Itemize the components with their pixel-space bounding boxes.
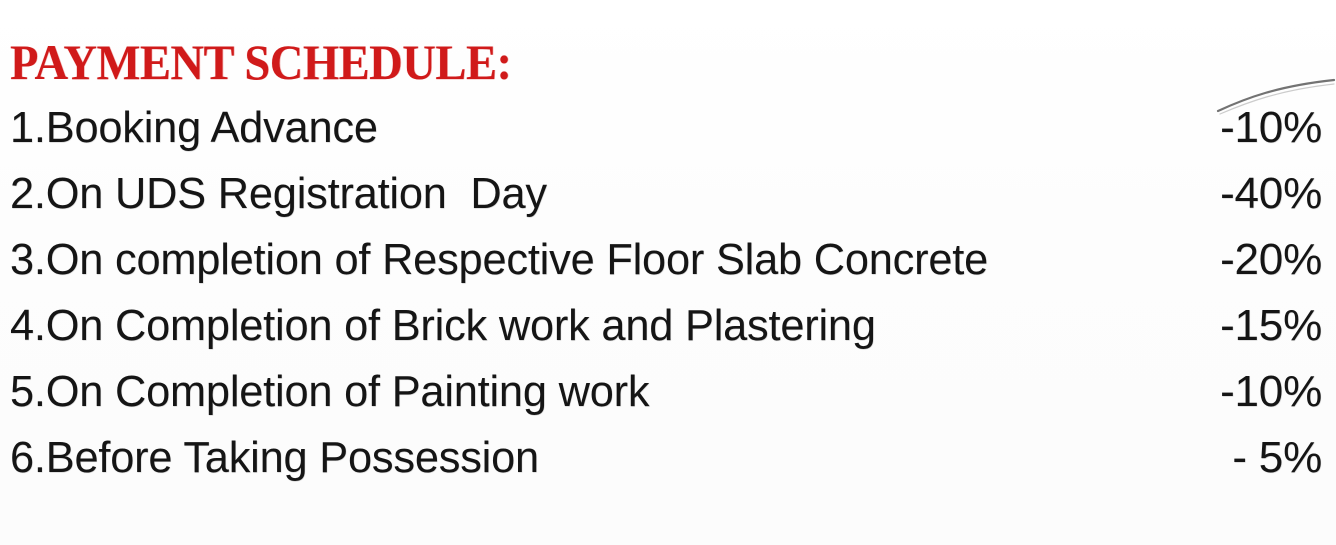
list-item: 2.On UDS Registration Day -40% xyxy=(10,166,1326,232)
list-item: 3.On completion of Respective Floor Slab… xyxy=(10,232,1326,298)
page-title: PAYMENT SCHEDULE: xyxy=(10,36,512,88)
schedule-item-label: 4.On Completion of Brick work and Plaste… xyxy=(10,298,876,354)
schedule-item-label: 3.On completion of Respective Floor Slab… xyxy=(10,232,988,288)
list-item: 4.On Completion of Brick work and Plaste… xyxy=(10,298,1326,364)
schedule-item-percentage: - 5% xyxy=(1232,430,1326,486)
schedule-item-percentage: -10% xyxy=(1220,100,1326,156)
list-item: 6.Before Taking Possession - 5% xyxy=(10,430,1326,496)
schedule-item-label: 1.Booking Advance xyxy=(10,100,378,156)
list-item: 5.On Completion of Painting work -10% xyxy=(10,364,1326,430)
payment-schedule-list: 1.Booking Advance -10% 2.On UDS Registra… xyxy=(10,100,1326,496)
payment-schedule-document: PAYMENT SCHEDULE: 1.Booking Advance -10%… xyxy=(0,0,1336,545)
schedule-item-percentage: -10% xyxy=(1220,364,1326,420)
schedule-item-label: 6.Before Taking Possession xyxy=(10,430,539,486)
schedule-item-percentage: -40% xyxy=(1220,166,1326,222)
schedule-item-percentage: -20% xyxy=(1220,232,1326,288)
schedule-item-percentage: -15% xyxy=(1220,298,1326,354)
list-item: 1.Booking Advance -10% xyxy=(10,100,1326,166)
schedule-item-label: 2.On UDS Registration Day xyxy=(10,166,547,222)
schedule-item-label: 5.On Completion of Painting work xyxy=(10,364,649,420)
